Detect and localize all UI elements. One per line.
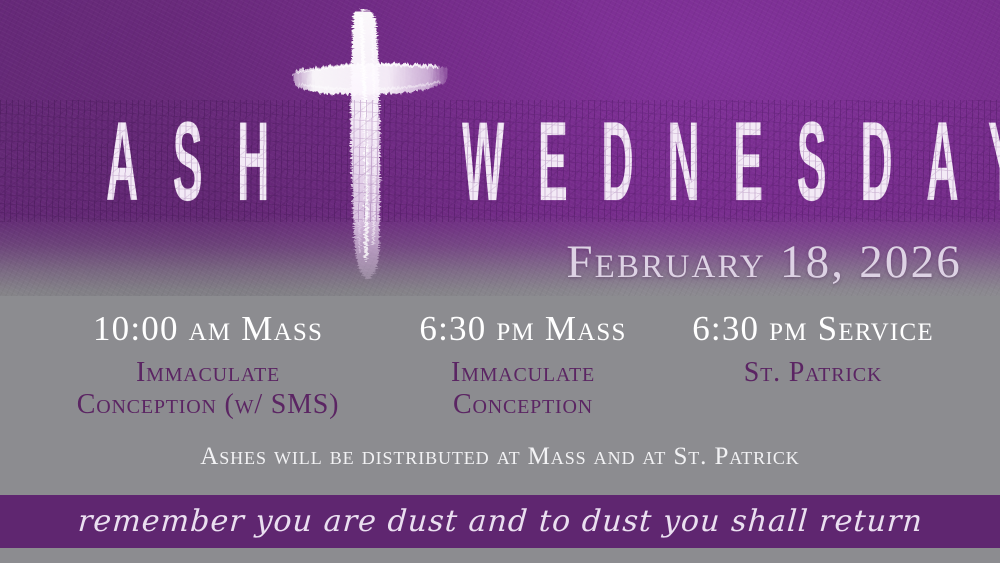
ashes-distribution-note: Ashes will be distributed at Mass and at…: [0, 443, 1000, 471]
service-location-line: Conception (w/ SMS): [18, 389, 398, 421]
ash-wednesday-poster: ASH WEDNESDAY February 18, 2026 10:00 am…: [0, 0, 1000, 563]
service-column: 6:30 pm Mass Immaculate Conception: [398, 311, 648, 422]
service-times-row: 10:00 am Mass Immaculate Conception (w/ …: [0, 311, 1000, 422]
service-location-line: St. Patrick: [648, 357, 978, 389]
headline-word-wednesday: WEDNESDAY: [462, 106, 1000, 218]
bottom-banner: remember you are dust and to dust you sh…: [0, 495, 1000, 548]
service-location-line: Conception: [398, 389, 648, 421]
service-location-line: Immaculate: [398, 357, 648, 389]
bottom-banner-text: remember you are dust and to dust you sh…: [76, 504, 923, 539]
service-location-line: Immaculate: [18, 357, 398, 389]
service-location: Immaculate Conception: [398, 357, 648, 422]
headline-word-wednesday-text: WEDNESDAY: [462, 106, 1000, 218]
headline-word-ash-text: ASH: [106, 106, 304, 218]
service-time: 10:00 am Mass: [18, 311, 398, 348]
service-column: 10:00 am Mass Immaculate Conception (w/ …: [18, 311, 398, 422]
headline: ASH WEDNESDAY: [0, 106, 1000, 218]
service-location: St. Patrick: [648, 357, 978, 389]
service-time: 6:30 pm Service: [648, 311, 978, 348]
service-column: 6:30 pm Service St. Patrick: [648, 311, 978, 422]
service-time: 6:30 pm Mass: [398, 311, 648, 348]
event-date: February 18, 2026: [0, 235, 962, 289]
service-location: Immaculate Conception (w/ SMS): [18, 357, 398, 422]
